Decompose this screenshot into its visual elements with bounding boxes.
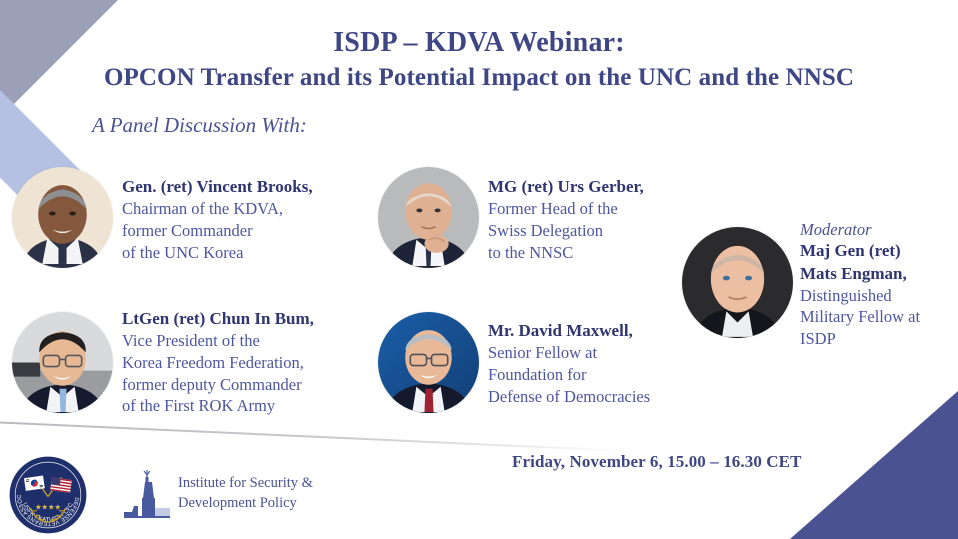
moderator-label: Moderator [800, 219, 950, 240]
svg-text:★★★★: ★★★★ [35, 502, 61, 511]
panelist-role-line: Senior Fellow at [488, 342, 703, 364]
panelist-name: MG (ret) Urs Gerber, [488, 176, 703, 198]
footer-divider-line [0, 421, 629, 452]
moderator-text-block: Moderator Maj Gen (ret) Mats Engman, Dis… [800, 219, 950, 350]
isdp-organisation-name: Institute for Security & Development Pol… [178, 474, 313, 513]
panelist-text-vincent-brooks: Gen. (ret) Vincent Brooks, Chairman of t… [122, 176, 387, 263]
moderator-role-line: Military Fellow at [800, 306, 950, 328]
page-title-line1: ISDP – KDVA Webinar: [0, 26, 958, 59]
panelist-role-line: to the NNSC [488, 242, 703, 264]
avatar-david-maxwell [378, 312, 479, 413]
panelist-role-line: Defense of Democracies [488, 386, 703, 408]
panel-discussion-intro: A Panel Discussion With: [92, 113, 307, 138]
panelist-role-line: former Commander [122, 220, 387, 242]
bottom-right-dark-triangle [790, 391, 958, 539]
isdp-name-line2: Development Policy [178, 494, 313, 514]
avatar-urs-gerber [378, 167, 479, 268]
panelist-name: Mr. David Maxwell, [488, 320, 703, 342]
webinar-poster: ISDP – KDVA Webinar: OPCON Transfer and … [0, 0, 958, 539]
isdp-name-line1: Institute for Security & [178, 474, 313, 494]
panelist-role-line: Chairman of the KDVA, [122, 198, 387, 220]
moderator-name-line: Maj Gen (ret) [800, 240, 950, 262]
panelist-name: LtGen (ret) Chun In Bum, [122, 308, 392, 330]
panelist-role-line: Vice President of the [122, 330, 392, 352]
panelist-name: Gen. (ret) Vincent Brooks, [122, 176, 387, 198]
kdva-emblem-logo: KOREA DEFENSE VETERANS ASSOCIATION USFK … [8, 455, 88, 535]
isdp-lighthouse-logo [122, 468, 172, 520]
event-datetime: Friday, November 6, 15.00 – 16.30 CET [512, 452, 802, 472]
moderator-role-line: ISDP [800, 328, 950, 350]
panelist-role-line: Swiss Delegation [488, 220, 703, 242]
moderator-name-line: Mats Engman, [800, 263, 950, 285]
panelist-text-david-maxwell: Mr. David Maxwell, Senior Fellow at Foun… [488, 320, 703, 407]
panelist-role-line: of the First ROK Army [122, 395, 392, 417]
moderator-role-line: Distinguished [800, 285, 950, 307]
panelist-role-line: former deputy Commander [122, 374, 392, 396]
panelist-role-line: Former Head of the [488, 198, 703, 220]
title-block: ISDP – KDVA Webinar: OPCON Transfer and … [0, 26, 958, 95]
panelist-role-line: Foundation for [488, 364, 703, 386]
avatar-chun-in-bum [12, 312, 113, 413]
page-title-line2: OPCON Transfer and its Potential Impact … [0, 62, 958, 95]
panelist-role-line: of the UNC Korea [122, 242, 387, 264]
panelist-role-line: Korea Freedom Federation, [122, 352, 392, 374]
avatar-vincent-brooks [12, 167, 113, 268]
panelist-text-chun-in-bum: LtGen (ret) Chun In Bum, Vice President … [122, 308, 392, 417]
panelist-text-urs-gerber: MG (ret) Urs Gerber, Former Head of the … [488, 176, 703, 263]
